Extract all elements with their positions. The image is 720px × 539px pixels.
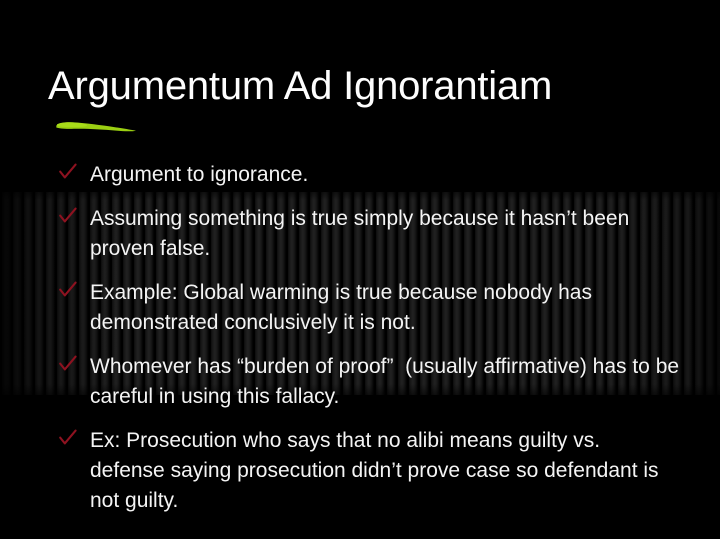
list-item: Assuming something is true simply becaus… — [56, 204, 680, 264]
bullet-list: Argument to ignorance. Assuming somethin… — [56, 160, 680, 530]
list-item: Example: Global warming is true because … — [56, 278, 680, 338]
check-icon — [58, 162, 78, 182]
list-item-label: Example: Global warming is true because … — [90, 278, 680, 338]
presentation-slide: Argumentum Ad Ignorantiam Argument to ig… — [0, 0, 720, 539]
list-item: Argument to ignorance. — [56, 160, 680, 190]
check-icon — [58, 354, 78, 374]
list-item: Ex: Prosecution who says that no alibi m… — [56, 426, 680, 516]
list-item-label: Argument to ignorance. — [90, 160, 680, 190]
list-item-label: Ex: Prosecution who says that no alibi m… — [90, 426, 680, 516]
green-brush-accent-icon — [54, 118, 138, 136]
check-icon — [58, 428, 78, 448]
slide-title: Argumentum Ad Ignorantiam — [48, 64, 552, 109]
list-item-label: Whomever has “burden of proof” (usually … — [90, 352, 680, 412]
check-icon — [58, 206, 78, 226]
list-item-label: Assuming something is true simply becaus… — [90, 204, 680, 264]
check-icon — [58, 280, 78, 300]
list-item: Whomever has “burden of proof” (usually … — [56, 352, 680, 412]
